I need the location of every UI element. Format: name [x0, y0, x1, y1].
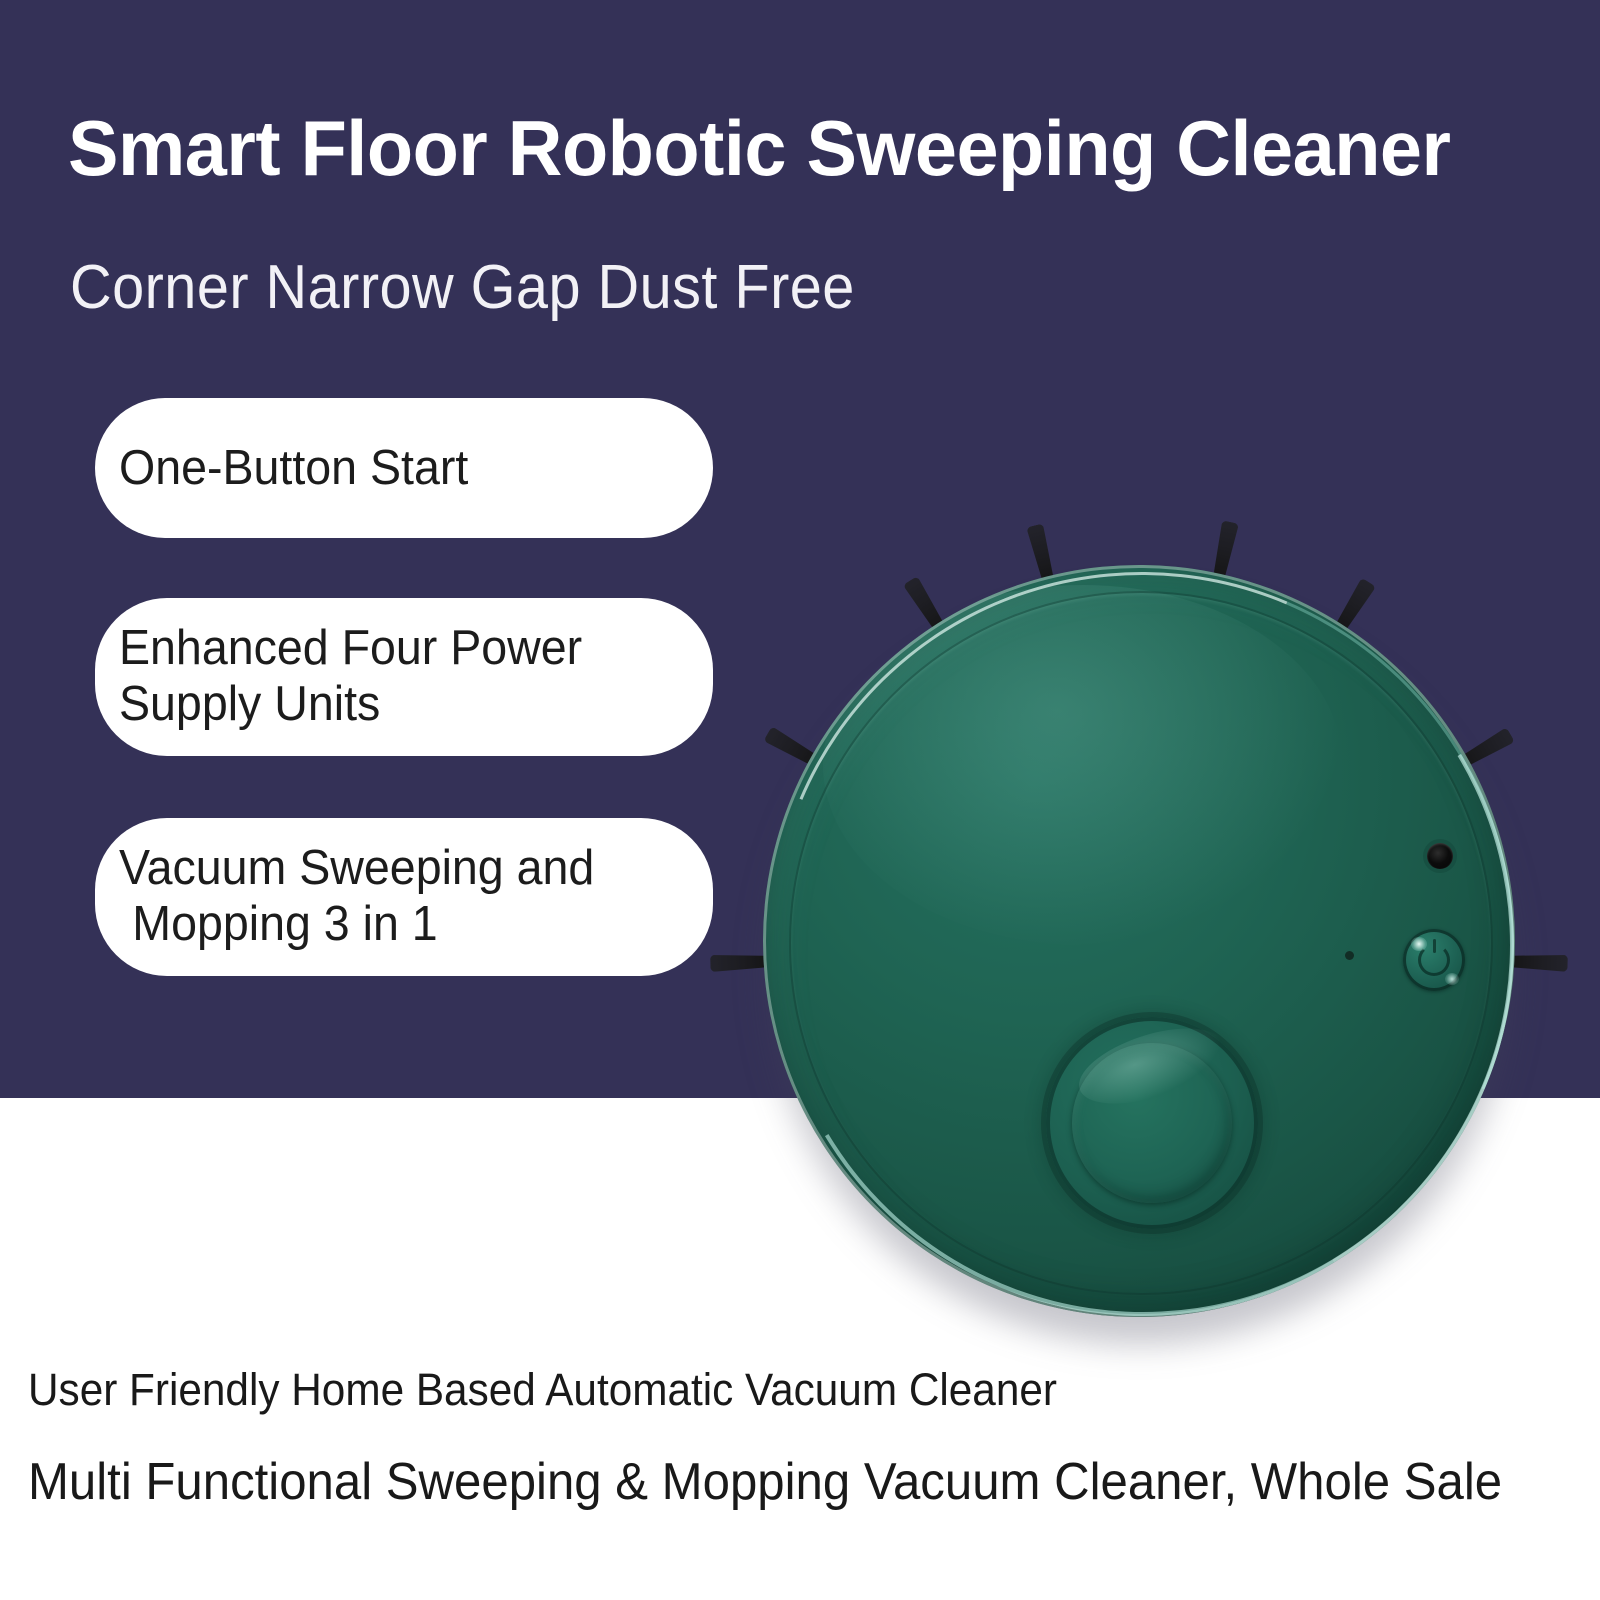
caption-line-1: User Friendly Home Based Automatic Vacuu…	[28, 1364, 1057, 1416]
power-button-specular-bottom	[1445, 973, 1459, 985]
robot-body-disc	[763, 565, 1515, 1317]
feature-pill-label: One-Button Start	[119, 441, 659, 496]
page-subtitle: Corner Narrow Gap Dust Free	[70, 252, 855, 323]
product-poster: Smart Floor Robotic Sweeping Cleaner Cor…	[0, 0, 1600, 1600]
page-title: Smart Floor Robotic Sweeping Cleaner	[68, 108, 1523, 190]
feature-pill-one-button-start: One-Button Start	[95, 398, 713, 538]
indicator-dot-icon	[1345, 951, 1354, 960]
feature-pill-label-line2: Mopping 3 in 1	[119, 897, 659, 953]
feature-pill-label: Vacuum Sweeping and	[119, 841, 659, 897]
caption-line-2: Multi Functional Sweeping & Mopping Vacu…	[28, 1452, 1502, 1512]
feature-pill-label-line2: Supply Units	[119, 677, 659, 733]
feature-pill-vacuum-sweeping-mopping: Vacuum Sweeping and Mopping 3 in 1	[95, 818, 713, 976]
robot-vacuum-image	[735, 535, 1545, 1345]
center-dust-bin-button[interactable]	[1046, 1017, 1258, 1229]
feature-pill-enhanced-four-power-supply-units: Enhanced Four Power Supply Units	[95, 598, 713, 756]
power-button[interactable]	[1403, 929, 1465, 991]
power-button-specular-top	[1411, 937, 1427, 951]
sensor-port-icon	[1427, 843, 1453, 869]
feature-pill-label: Enhanced Four Power	[119, 621, 659, 677]
bristle-tuft	[1505, 953, 1568, 972]
